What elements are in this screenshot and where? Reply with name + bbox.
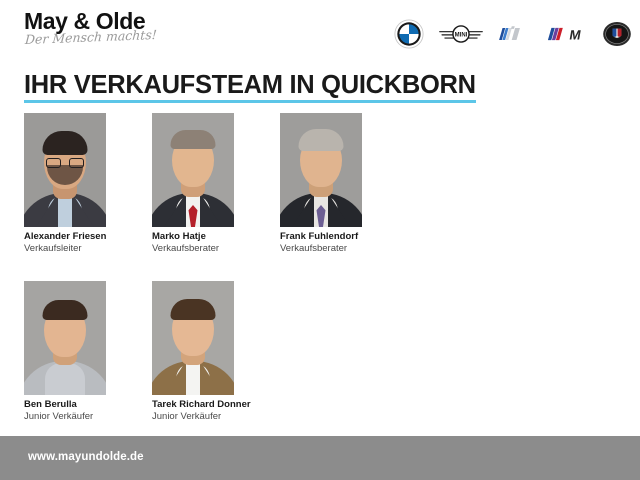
member-role: Verkaufsberater xyxy=(280,243,362,255)
member-role: Verkaufsleiter xyxy=(24,243,106,255)
member-name: Alexander Friesen xyxy=(24,231,106,243)
bmw-i-logo-icon xyxy=(498,24,534,44)
team-member-card[interactable]: Tarek Richard Donner Junior Verkäufer xyxy=(152,281,234,423)
page-header: May & Olde Der Mensch machts! xyxy=(0,0,640,68)
portrait-marko-hatje xyxy=(152,113,234,227)
team-row: Alexander Friesen Verkaufsleiter Marko H… xyxy=(24,113,616,255)
portrait-frank-fuhlendorf xyxy=(280,113,362,227)
page-title-block: IHR VERKAUFSTEAM IN QUICKBORN xyxy=(24,72,616,103)
mini-logo: MINI xyxy=(438,18,484,50)
brand-logo[interactable]: May & Olde Der Mensch machts! xyxy=(24,8,157,47)
team-member-card[interactable]: Ben Berulla Junior Verkäufer xyxy=(24,281,106,423)
portrait-tarek-richard-donner xyxy=(152,281,234,395)
member-role: Junior Verkäufer xyxy=(24,411,106,423)
member-role: Verkaufsberater xyxy=(152,243,234,255)
bmw-m-logo-icon: M xyxy=(548,24,588,44)
footer-website-url[interactable]: www.mayundolde.de xyxy=(28,451,144,463)
mini-logo-icon: MINI xyxy=(438,23,484,45)
svg-text:MINI: MINI xyxy=(455,32,468,38)
member-role: Junior Verkäufer xyxy=(152,411,234,423)
team-member-card[interactable]: Alexander Friesen Verkaufsleiter xyxy=(24,113,106,255)
member-name: Tarek Richard Donner xyxy=(152,399,234,411)
svg-text:M: M xyxy=(568,28,582,43)
brand-logo-bar: MINI M xyxy=(394,18,632,50)
bmw-i-logo xyxy=(498,18,534,50)
brand-tagline: Der Mensch machts! xyxy=(25,28,158,47)
portrait-ben-berulla xyxy=(24,281,106,395)
member-name: Frank Fuhlendorf xyxy=(280,231,362,243)
team-member-card[interactable]: Frank Fuhlendorf Verkaufsberater xyxy=(280,113,362,255)
team-row: Ben Berulla Junior Verkäufer Tarek Richa… xyxy=(24,281,616,423)
member-name: Ben Berulla xyxy=(24,399,106,411)
alpina-logo xyxy=(602,18,632,50)
team-member-card[interactable]: Marko Hatje Verkaufsberater xyxy=(152,113,234,255)
page-title: IHR VERKAUFSTEAM IN QUICKBORN xyxy=(24,72,616,98)
alpina-logo-icon xyxy=(602,19,632,49)
member-name: Marko Hatje xyxy=(152,231,234,243)
bmw-logo xyxy=(394,18,424,50)
bmw-m-logo: M xyxy=(548,18,588,50)
page-footer: www.mayundolde.de xyxy=(0,436,640,480)
title-underline xyxy=(24,100,476,103)
bmw-logo-icon xyxy=(394,19,424,49)
portrait-alexander-friesen xyxy=(24,113,106,227)
team-grid: Alexander Friesen Verkaufsleiter Marko H… xyxy=(24,113,616,449)
